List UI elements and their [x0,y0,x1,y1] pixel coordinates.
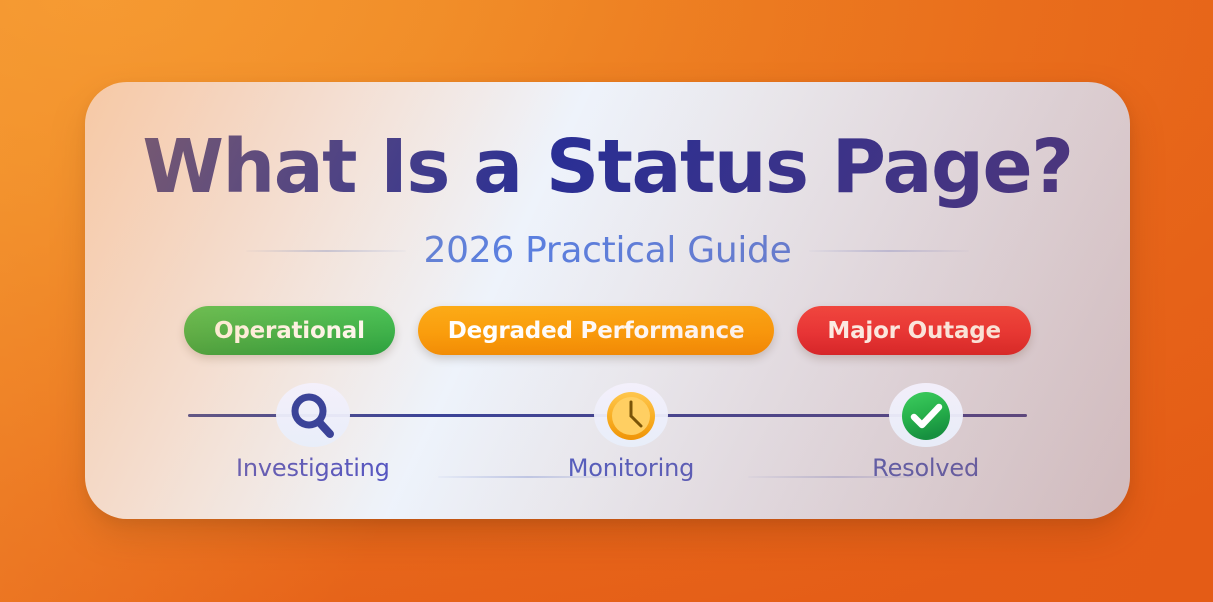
subtitle-rule-right [809,250,969,252]
status-badge-major-outage[interactable]: Major Outage [797,306,1031,355]
magnifier-icon [279,382,347,450]
page-subtitle: 2026 Practical Guide [424,230,792,271]
timeline-step-monitoring[interactable]: Monitoring [568,382,694,482]
timeline-step-resolved[interactable]: Resolved [872,382,979,482]
timeline-steps: Investigating [188,382,1027,482]
page-title: What Is a Status Page? [85,130,1130,204]
incident-timeline: Investigating [188,382,1027,492]
subtitle-row: 2026 Practical Guide [85,230,1130,271]
status-badge-operational[interactable]: Operational [184,306,395,355]
status-badge-group: Operational Degraded Performance Major O… [85,306,1130,355]
timeline-step-investigating[interactable]: Investigating [236,382,390,482]
check-circle-icon [892,382,960,450]
timeline-step-label-monitoring: Monitoring [568,454,694,482]
subtitle-rule-left [246,250,406,252]
timeline-step-label-investigating: Investigating [236,454,390,482]
status-badge-degraded-performance[interactable]: Degraded Performance [418,306,775,355]
page-background: What Is a Status Page? 2026 Practical Gu… [0,0,1213,602]
timeline-step-label-resolved: Resolved [872,454,979,482]
status-page-card: What Is a Status Page? 2026 Practical Gu… [85,82,1130,519]
clock-icon [597,382,665,450]
